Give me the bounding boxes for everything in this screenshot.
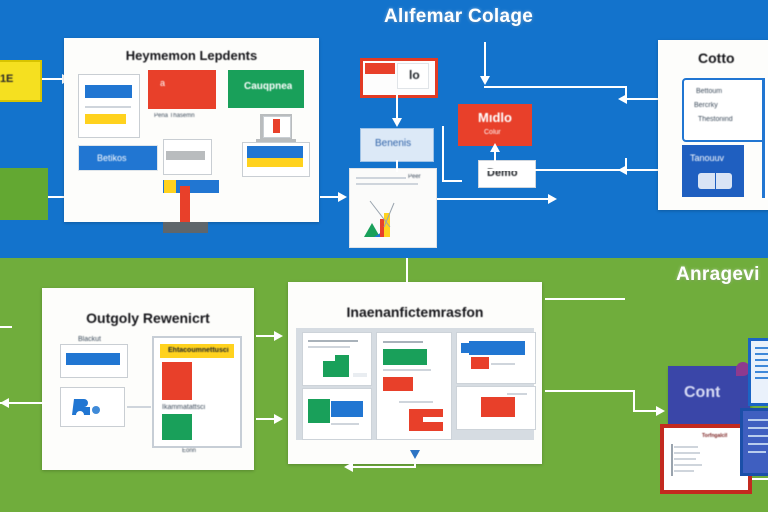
panel-blue-button[interactable]: Betikos xyxy=(78,145,158,171)
doc-blue-a-line-6 xyxy=(755,377,768,379)
slide-green-step-strip xyxy=(353,373,367,377)
slide-green-step-text-1 xyxy=(308,340,358,342)
slide-col3-blue-stub xyxy=(461,343,469,353)
connector-band-bridge xyxy=(406,258,408,284)
chart-card-glyph xyxy=(360,197,420,241)
slide-green-step-bar-b xyxy=(335,355,349,377)
panel-blue-bar-text xyxy=(85,106,131,108)
connector-right-card-in-upper-v xyxy=(625,86,627,99)
puzzle-icon xyxy=(70,393,110,419)
connector-left-card-to-center-lower-head xyxy=(274,414,283,424)
slide-pair-blue xyxy=(331,401,363,417)
connector-center-return-line xyxy=(350,466,416,468)
connector-center-return-downhead xyxy=(410,450,420,459)
slide-col3-blue-bar xyxy=(469,341,525,355)
doc-blue-a-line-3 xyxy=(755,359,768,361)
chip-red-outline-bar xyxy=(365,63,395,74)
slide-green-step-text-2 xyxy=(308,346,350,348)
panel-red-tile: a xyxy=(148,70,216,109)
panel-green-tile-label: Cauqpnea xyxy=(244,81,292,92)
doc-blue-a-line-2 xyxy=(755,353,768,355)
connector-right-card-in-lower-v xyxy=(625,158,627,170)
diagram-canvas: Alıfemar Colage Anragevi A1E Heymemon Le… xyxy=(0,0,768,512)
block-outline: Bettoum Bercrky Thestonind xyxy=(682,78,768,142)
slide-red-tile-text xyxy=(507,393,527,395)
entry-chip-yellow[interactable]: A1E xyxy=(0,60,42,102)
connector-main-to-right-head xyxy=(338,192,347,202)
connector-right-card-in-upper-line xyxy=(625,98,659,100)
doc-red-line-5 xyxy=(674,470,694,472)
card-cotto: Cotto Bettoum Bercrky Thestonind Tanouuv xyxy=(658,40,768,210)
doc-red-line-3 xyxy=(674,458,696,460)
connector-into-left-card-head xyxy=(0,398,9,408)
connector-midlo-side xyxy=(442,180,462,182)
panel-flag-bottom xyxy=(247,158,303,167)
band-bottom-title: Anragevi xyxy=(676,264,760,286)
block-outline-line-1: Bettoum xyxy=(696,88,722,95)
card-cotto-title: Cotto xyxy=(698,50,735,66)
slide-green-bar xyxy=(383,349,427,365)
doc-blue-b-line-3 xyxy=(748,435,768,437)
connector-right-card-in-lower-line xyxy=(486,169,659,171)
doc-red-framed-label: Torfngalcif xyxy=(702,433,727,439)
slide-col2-text-3 xyxy=(399,401,433,403)
doc-blue-b-line-2 xyxy=(748,427,768,429)
slide-green-step-bar-a xyxy=(323,361,335,377)
chip-red-solid-label: Mıdlo xyxy=(478,110,512,125)
doc-red-line-1 xyxy=(674,446,698,448)
panel-tower-icon-post xyxy=(180,186,190,224)
connector-chart-to-demo-head xyxy=(548,194,557,204)
chart-card-text-1 xyxy=(356,177,406,179)
panel-yellow-bar-fill xyxy=(85,114,126,124)
connector-demo-to-midlo-head xyxy=(490,143,500,152)
entry-chip-green[interactable] xyxy=(0,168,48,220)
card-implementation: Inaenanfictemrasfon xyxy=(288,282,542,464)
chip-cont-label: Cont xyxy=(684,384,720,402)
panel-laptop-screen-accent xyxy=(273,119,280,133)
doc-red-rail xyxy=(671,444,673,476)
slide-col3-red-tag xyxy=(471,357,489,369)
connector-top-spine-v xyxy=(484,42,486,78)
doc-blue-b-line-5 xyxy=(748,451,766,453)
card-implementation-title: Inaenanfictemrasfon xyxy=(288,304,542,320)
chip-cont[interactable]: Cont xyxy=(668,366,750,424)
block-solid-blue: Tanouuv xyxy=(682,145,744,197)
entry-chip-yellow-label: A1E xyxy=(0,73,13,85)
panel-tower-icon-base xyxy=(163,222,208,233)
connector-midlo-side-v xyxy=(442,126,444,180)
card-outgoing-requirement-title: Outgoly Rewenicrt xyxy=(42,310,254,326)
connector-left-card-to-center-upper-head xyxy=(274,331,283,341)
chart-card-text-2 xyxy=(356,183,418,185)
connector-center-return-head xyxy=(344,462,353,472)
block-outline-line-3: Thestonind xyxy=(698,116,733,123)
row-blue-bar xyxy=(66,353,120,365)
doc-red-line-2 xyxy=(674,452,700,454)
panel-flag-top xyxy=(247,146,303,158)
doc-blue-a-line-1 xyxy=(755,347,768,349)
connector-top-spine-head xyxy=(480,76,490,85)
panel-blue-strip-icon xyxy=(164,180,176,193)
doc-blue-a-line-4 xyxy=(755,365,768,367)
block-solid-blue-label: Tanouuv xyxy=(690,153,724,163)
chip-chart-card-label: Peer xyxy=(408,174,421,180)
doc-red-framed[interactable]: Torfngalcif xyxy=(660,424,752,494)
connector-top-spine-h xyxy=(484,86,625,88)
inner-panel-tile-green xyxy=(162,414,192,440)
block-solid-blue-toggle-div xyxy=(715,173,716,189)
slide-col2-text-1 xyxy=(383,341,423,343)
inner-panel: Ehtacoumnettusci Ikammatattsci xyxy=(152,336,242,448)
connector-paleblue-down xyxy=(396,160,398,172)
chip-demo[interactable]: Demo xyxy=(478,160,536,188)
row-connector-dots xyxy=(127,406,151,408)
chip-red-solid[interactable]: Mıdlo Colur xyxy=(458,104,532,146)
slide-red-tile-fill xyxy=(481,397,515,417)
doc-blue-b-line-4 xyxy=(748,443,768,445)
inner-panel-header: Ehtacoumnettusci xyxy=(160,344,234,358)
slide-red-bar xyxy=(383,377,413,391)
panel-green-tile: Cauqpnea xyxy=(228,70,304,108)
connector-center-to-cont-line xyxy=(545,390,635,392)
panel-blue-button-label: Betikos xyxy=(97,153,127,163)
slide-column-2 xyxy=(376,332,452,440)
slide-pair-text xyxy=(331,423,359,425)
card-outgoing-requirement: Outgoly Rewenicrt Blackut Ehtacoumnettus… xyxy=(42,288,254,470)
connector-redtop-to-paleblue-head xyxy=(392,118,402,127)
doc-red-line-4 xyxy=(674,464,702,466)
inner-panel-header-label: Ehtacoumnettusci xyxy=(168,347,229,354)
panel-red-tile-label: a xyxy=(160,78,165,88)
panel-blue-bar-fill xyxy=(85,85,132,98)
chip-pale-blue-label: Benenis xyxy=(375,138,411,149)
slide-pair-green xyxy=(308,399,330,423)
chip-red-outline-label: lo xyxy=(409,68,420,82)
slide-col3-text xyxy=(491,363,515,365)
card-harmonized-elements-title: Heymemon Lepdents xyxy=(64,48,319,63)
connector-center-to-cont-v xyxy=(633,390,635,412)
doc-blue-a-line-5 xyxy=(755,371,768,373)
slide-red-block-notch xyxy=(423,417,443,422)
connector-chart-to-demo-line xyxy=(437,198,555,200)
inner-panel-footer: Eonn xyxy=(182,448,196,454)
connector-redtop-to-paleblue xyxy=(396,92,398,120)
chip-red-outline[interactable]: lo xyxy=(360,58,438,98)
panel-red-caption: Pena Thasemn xyxy=(154,113,195,119)
block-right-edge xyxy=(762,78,768,198)
block-outline-line-2: Bercrky xyxy=(694,102,718,109)
doc-blue-outline[interactable] xyxy=(748,338,768,406)
slide-blue-bar-red-tag xyxy=(456,332,536,384)
connector-center-to-cont-head xyxy=(656,406,665,416)
panel-gray-chart-bar xyxy=(166,151,205,160)
doc-blue-b-line-1 xyxy=(748,419,768,421)
chip-pale-blue[interactable]: Benenis xyxy=(360,128,434,162)
slide-green-step xyxy=(302,332,372,386)
connector-yellow-to-main-line xyxy=(42,78,64,80)
connector-left-edge-upper xyxy=(0,326,12,328)
slide-col2-text-2 xyxy=(383,369,431,371)
chip-red-solid-sublabel: Colur xyxy=(484,129,501,136)
slide-green-blue-pair xyxy=(302,388,372,440)
inner-panel-caption: Ikammatattsci xyxy=(162,404,205,411)
inner-panel-tile-red xyxy=(162,362,192,400)
card-harmonized-elements: Heymemon Lepdents a Pena Thasemn Cauqpne… xyxy=(64,38,319,222)
doc-blue-solid[interactable] xyxy=(740,408,768,476)
chip-chart-card: Peer xyxy=(349,168,437,248)
row-caption: Blackut xyxy=(78,336,101,343)
connector-center-out-upper xyxy=(545,298,625,300)
slide-red-tile xyxy=(456,386,536,430)
band-top-title: Alıfemar Colage xyxy=(384,6,533,28)
